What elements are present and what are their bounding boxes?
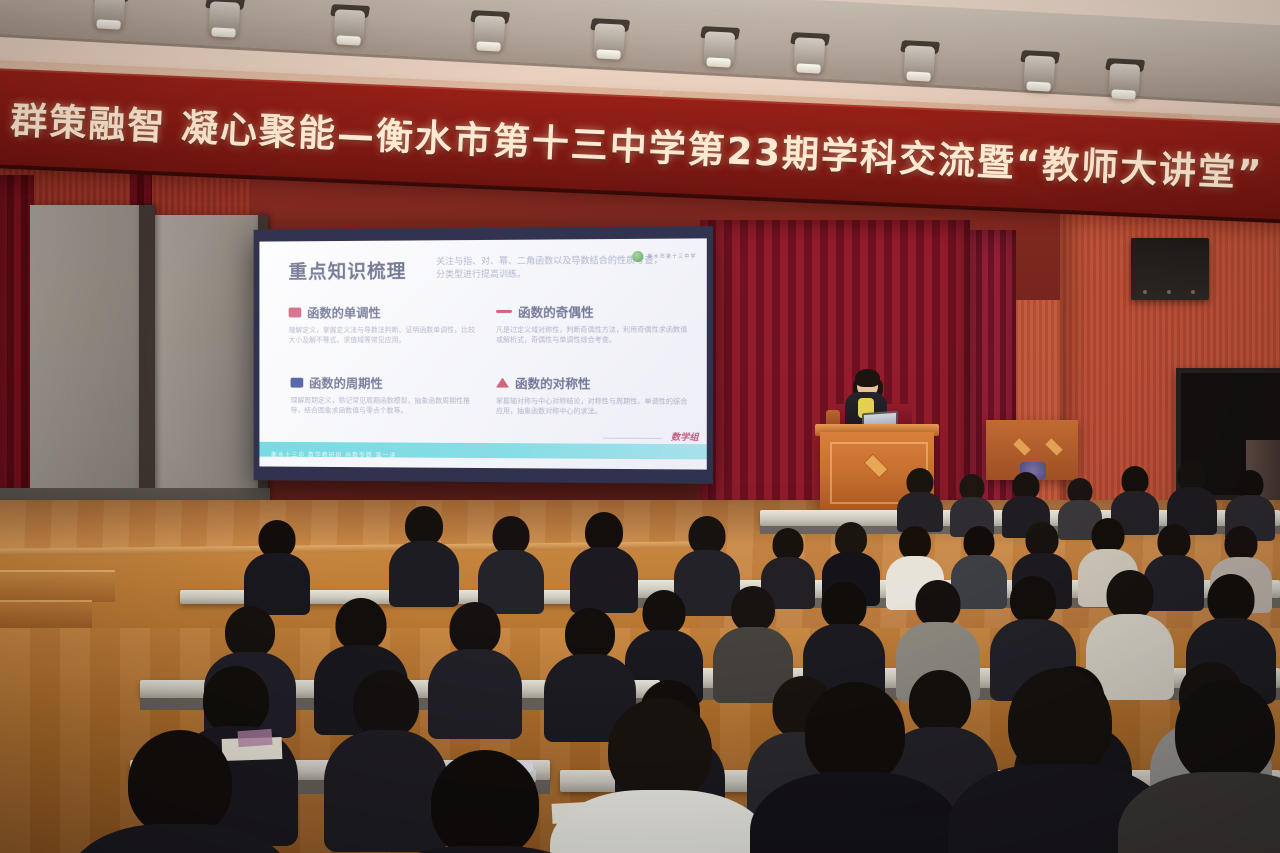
stage-spotlight-icon: [899, 45, 939, 93]
slide-school-logo: 衡水市第十三中学: [632, 251, 696, 263]
slide-title: 重点知识梳理: [289, 256, 407, 283]
slide-section-monotonicity: 函数的单调性 理解定义，掌握定义法与导数法判断、证明函数单调性，比较大小及解不等…: [289, 302, 476, 345]
section-heading: 函数的对称性: [515, 373, 591, 392]
school-emblem-icon: [632, 251, 643, 262]
section-bullet-icon: [496, 310, 512, 313]
section-body: 凡是过定义域对称性，判断奇偶性方法，利用奇偶性求函数值或解析式，奇偶性与单调性综…: [496, 326, 688, 345]
attendee-foreground: [1130, 680, 1280, 853]
attendee: [1168, 460, 1216, 530]
section-bullet-icon: [289, 307, 302, 317]
attendee-foreground: [80, 730, 280, 853]
slide-section-parity: 函数的奇偶性 凡是过定义域对称性，判断奇偶性方法，利用奇偶性求函数值或解析式，奇…: [496, 301, 688, 345]
attendee-foreground: [560, 698, 760, 853]
auditorium-photo: 群策融智 凝心聚能—衡水市第十三中学第23期学科交流暨“教师大讲堂” 重点知识梳…: [0, 0, 1280, 853]
stage-spotlight-icon: [329, 9, 369, 57]
section-heading: 函数的单调性: [307, 302, 381, 321]
section-heading: 函数的周期性: [309, 373, 383, 392]
section-heading: 函数的奇偶性: [518, 302, 594, 321]
stage-spotlight-icon: [1019, 55, 1059, 103]
slide-section-symmetry: 函数的对称性 掌握轴对称与中心对称结论，对称性与周期性、单调性的综合应用，抽象函…: [496, 373, 688, 417]
attendee: [898, 468, 942, 528]
attendee: [392, 506, 456, 602]
slide-logo-text: 衡水市第十三中学: [647, 253, 696, 260]
stage-spotlight-icon: [699, 31, 739, 79]
attendee-foreground: [380, 750, 590, 853]
stage-spotlight-icon: [204, 1, 244, 49]
stage-spotlight-icon: [89, 0, 129, 41]
attendee: [480, 516, 542, 610]
stage-spotlight-icon: [469, 15, 509, 63]
section-body: 理解周期定义，熟记常见周期函数模型，抽象函数周期性推导，结合图象求函数值与零点个…: [291, 397, 478, 416]
section-bullet-icon: [496, 378, 509, 388]
stage-spotlight-icon: [1104, 63, 1144, 111]
presenter-hair: [855, 369, 880, 387]
wall-mounted-speaker: [1131, 238, 1209, 300]
attendee: [950, 474, 994, 532]
section-bullet-icon: [291, 377, 304, 387]
audience-area: [0, 430, 1280, 853]
slide-section-periodicity: 函数的周期性 理解周期定义，熟记常见周期函数模型，抽象函数周期性推导，结合图象求…: [291, 373, 478, 416]
attendee: [432, 602, 518, 732]
attendee: [246, 520, 308, 610]
stage-spotlight-icon: [589, 23, 629, 71]
stage-spotlight-icon: [789, 37, 829, 85]
section-body: 掌握轴对称与中心对称结论，对称性与周期性、单调性的综合应用，抽象函数对称中心的求…: [496, 397, 688, 417]
attendee-foreground: [760, 682, 950, 853]
attendee: [572, 512, 636, 608]
section-body: 理解定义，掌握定义法与导数法判断、证明函数单调性，比较大小及解不等式、求值域等常…: [289, 326, 476, 345]
